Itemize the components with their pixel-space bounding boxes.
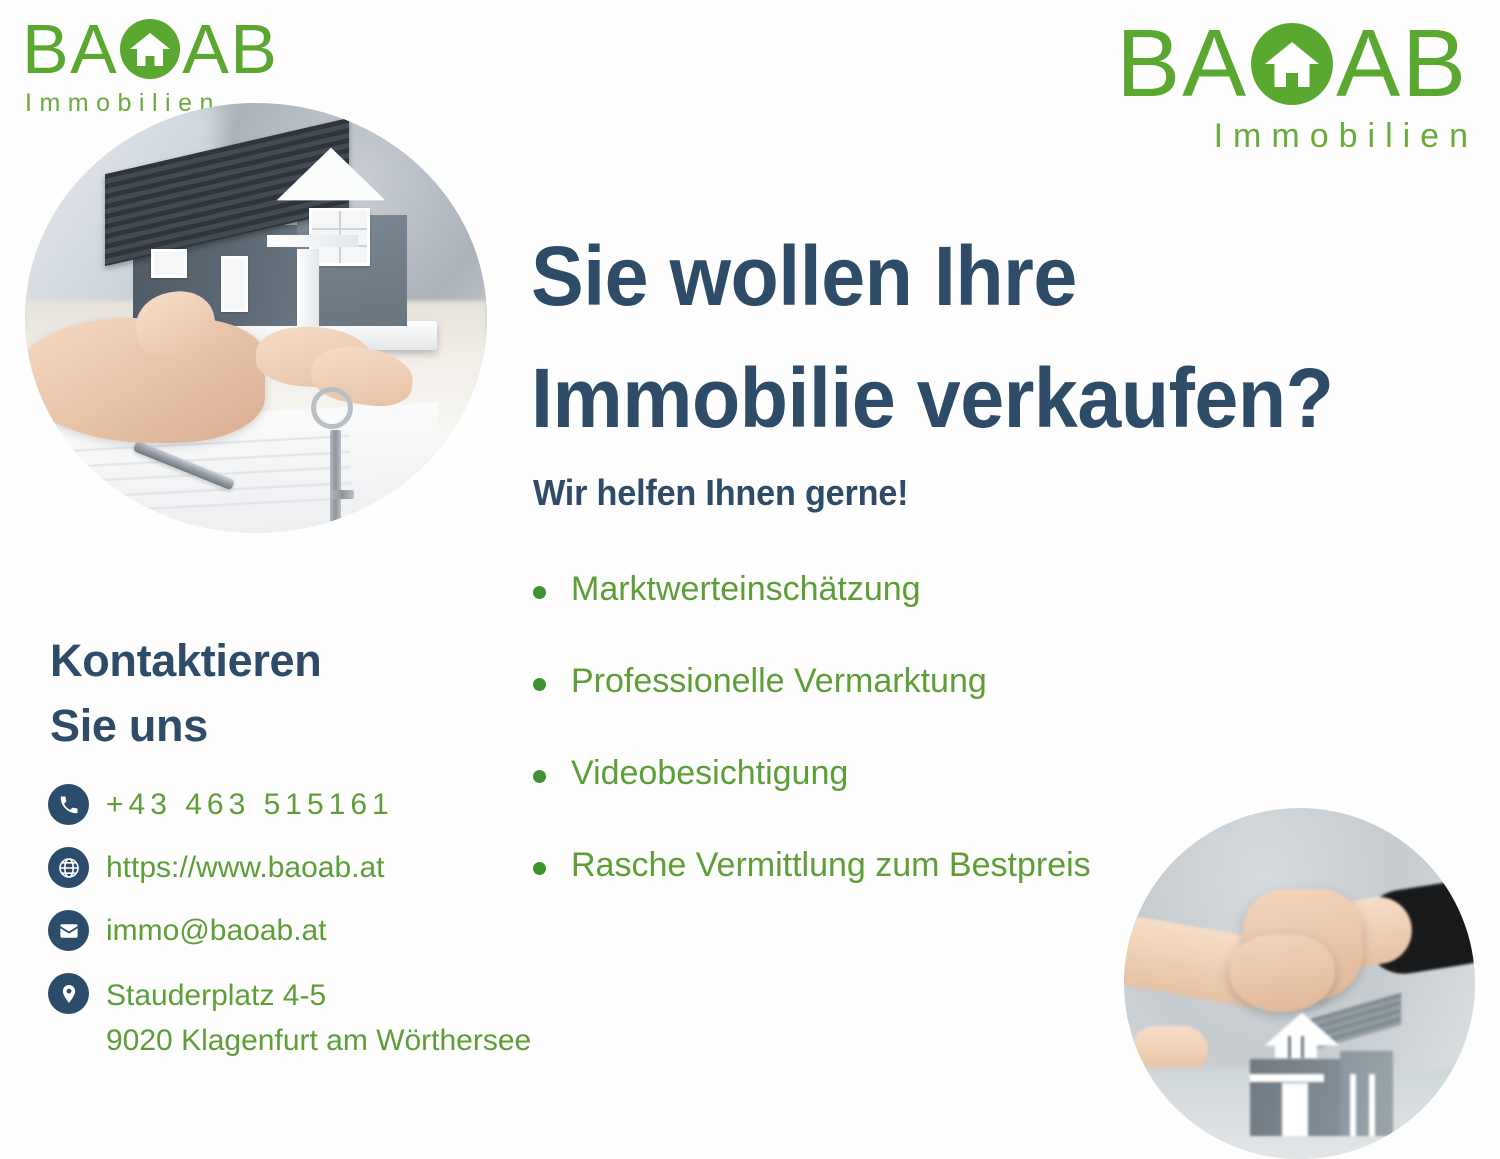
globe-icon — [48, 847, 89, 888]
logo-letters-right: AB — [182, 16, 278, 83]
contact-heading: Kontaktieren Sie uns — [50, 628, 321, 759]
location-pin-icon — [48, 973, 89, 1014]
benefit-label: Rasche Vermittlung zum Bestpreis — [571, 846, 1091, 884]
phone-icon — [48, 784, 89, 825]
contact-list: +43 463 515161 https://www.baoab.at immo… — [48, 784, 531, 1085]
logo-letters-left: BA — [1116, 18, 1248, 109]
contact-item-phone[interactable]: +43 463 515161 — [48, 784, 531, 825]
contact-phone-value: +43 463 515161 — [106, 784, 394, 825]
subtitle: Wir helfen Ihnen gerne! — [533, 472, 908, 514]
contact-website-value: https://www.baoab.at — [106, 847, 385, 888]
photo-handshake-over-model-house — [1124, 808, 1475, 1159]
logo-wordmark: BA AB — [1116, 18, 1468, 109]
contact-item-email[interactable]: immo@baoab.at — [48, 910, 531, 951]
logo-wordmark: BA AB — [22, 16, 278, 83]
logo-top-right: BA AB Immobilien — [1116, 18, 1468, 156]
contact-item-address[interactable]: Stauderplatz 4-5 9020 Klagenfurt am Wört… — [48, 973, 531, 1063]
contact-address-value: Stauderplatz 4-5 9020 Klagenfurt am Wört… — [106, 973, 531, 1063]
benefit-label: Marktwerteinschätzung — [571, 570, 921, 608]
list-item: Marktwerteinschätzung — [531, 572, 1231, 664]
bullet-icon — [533, 678, 546, 691]
envelope-icon — [48, 910, 89, 951]
house-icon — [1251, 23, 1333, 105]
logo-tagline: Immobilien — [1116, 117, 1478, 156]
logo-letters-right: AB — [1336, 18, 1468, 109]
benefit-label: Professionelle Vermarktung — [571, 662, 987, 700]
benefit-label: Videobesichtigung — [571, 754, 848, 792]
logo-letters-left: BA — [22, 16, 118, 83]
photo-hand-holding-model-house — [25, 103, 487, 533]
house-icon — [120, 19, 180, 79]
bullet-icon — [533, 586, 546, 599]
page-title: Sie wollen Ihre Immobilie verkaufen? — [531, 216, 1405, 460]
contact-email-value: immo@baoab.at — [106, 910, 327, 951]
contact-item-website[interactable]: https://www.baoab.at — [48, 847, 531, 888]
bullet-icon — [533, 770, 546, 783]
bullet-icon — [533, 862, 546, 875]
list-item: Professionelle Vermarktung — [531, 664, 1231, 756]
